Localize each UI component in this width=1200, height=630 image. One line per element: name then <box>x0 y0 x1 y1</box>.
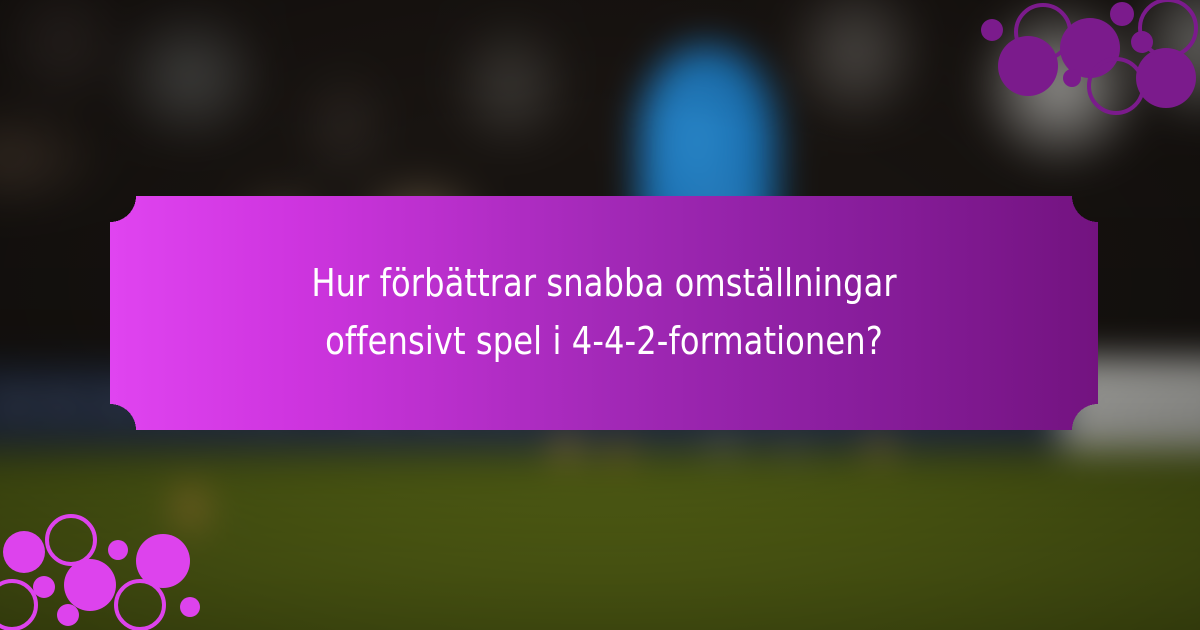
circle-cluster-bottom-left-icon <box>0 495 220 630</box>
circle-cluster-top-right <box>970 0 1200 120</box>
decorative-circle <box>1089 59 1143 113</box>
decorative-circle <box>116 581 164 629</box>
social-share-card: Hur förbättrar snabba omställningar offe… <box>0 0 1200 630</box>
decorative-circle <box>108 540 128 560</box>
circle-cluster-top-right-icon <box>970 0 1200 120</box>
decorative-circle <box>57 604 79 626</box>
decorative-circle <box>1110 2 1134 26</box>
decorative-circle <box>47 516 95 564</box>
decorative-circle <box>0 581 36 629</box>
decorative-circle <box>180 597 200 617</box>
decorative-circle <box>33 576 55 598</box>
decorative-circle <box>1131 31 1153 53</box>
decorative-circle <box>998 36 1058 96</box>
circle-cluster-bottom-left <box>0 495 220 630</box>
decorative-circle <box>1136 48 1196 108</box>
decorative-circle <box>64 559 116 611</box>
decorative-circle <box>1060 18 1120 78</box>
decorative-circle <box>3 531 45 573</box>
question-text: Hur förbättrar snabba omställningar offe… <box>243 255 965 371</box>
decorative-circle <box>1063 69 1081 87</box>
decorative-circle <box>981 19 1003 41</box>
question-card: Hur förbättrar snabba omställningar offe… <box>110 196 1098 430</box>
